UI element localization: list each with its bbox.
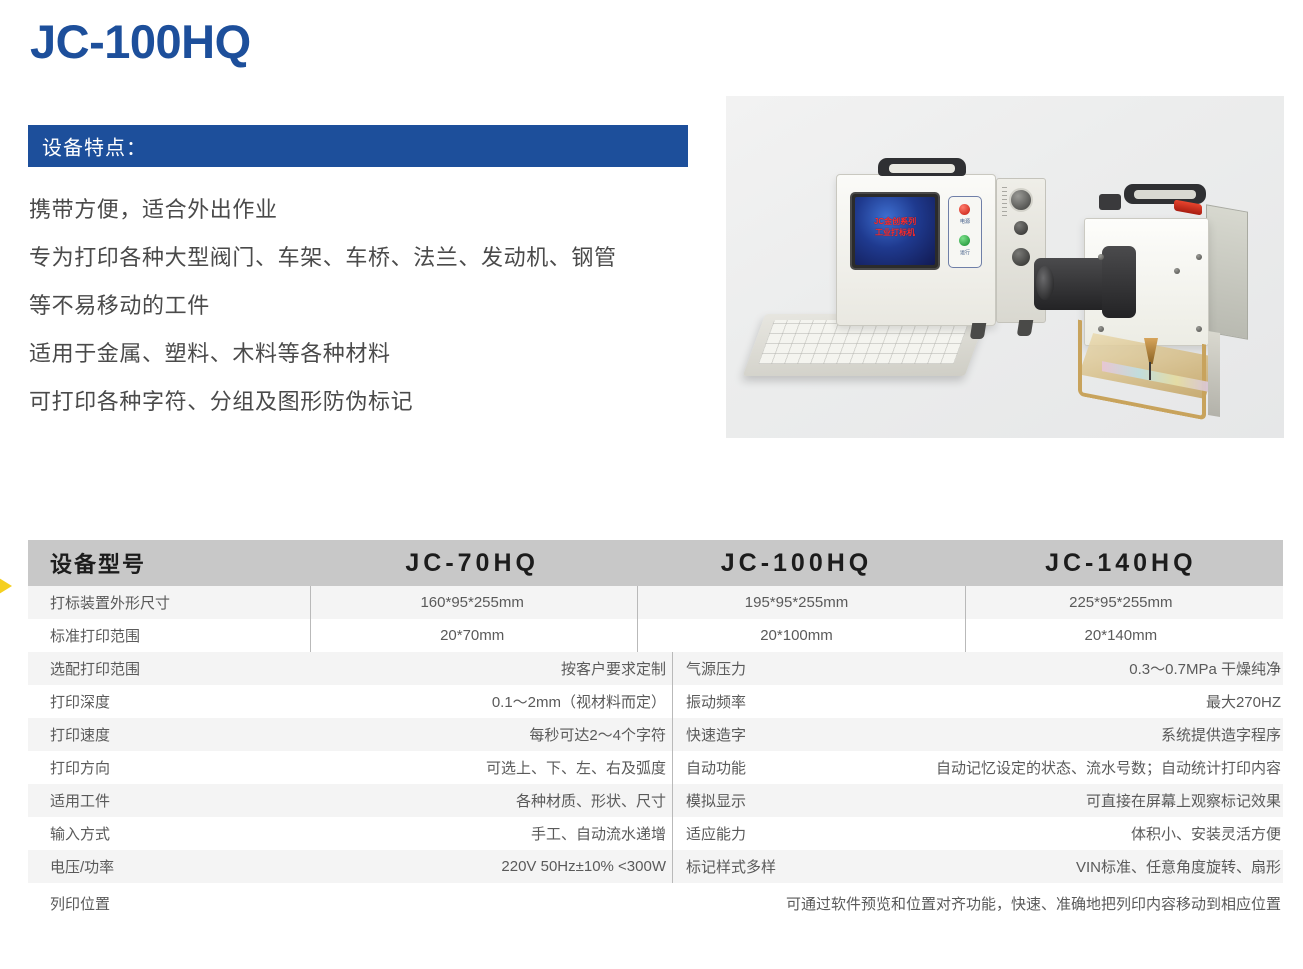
screen-text: JC金创系列 工业打标机 <box>855 216 935 238</box>
screen-line-2: 工业打标机 <box>875 228 915 237</box>
bolt-icon <box>1196 326 1202 332</box>
column-divider <box>637 586 638 619</box>
row-label: 气源压力 <box>672 658 822 679</box>
knob-small-lower <box>1012 248 1030 266</box>
power-led-label: 电源 <box>948 218 982 225</box>
power-led-icon <box>959 204 970 215</box>
center-divider <box>672 784 673 817</box>
controller-foot <box>1017 320 1034 336</box>
row-value: 体积小、安装灵活方便 <box>822 823 1283 844</box>
row-label: 列印位置 <box>28 893 310 914</box>
knob-small-upper <box>1014 221 1028 235</box>
row-half-left: 适用工件 各种材质、形状、尺寸 <box>28 784 672 817</box>
row-half-right: 标记样式多样 VIN标准、任意角度旋转、扇形 <box>672 850 1283 883</box>
marking-head-side <box>1206 204 1248 339</box>
row-marker-arrow-icon <box>0 570 12 602</box>
table-row: 适用工件 各种材质、形状、尺寸 模拟显示 可直接在屏幕上观察标记效果 <box>28 784 1283 817</box>
row-half-right: 快速造字 系统提供造字程序 <box>672 718 1283 751</box>
marking-stylus-tip <box>1149 362 1151 380</box>
row-value: 0.1～2mm（视材料而定） <box>288 691 672 712</box>
row-value: 最大270HZ <box>822 691 1283 712</box>
row-value: 手工、自动流水递增 <box>288 823 672 844</box>
bolt-icon <box>1174 268 1180 274</box>
run-led-label: 运行 <box>948 249 982 256</box>
table-header-model-1: JC-70HQ <box>310 549 634 578</box>
row-label: 打印速度 <box>28 724 288 745</box>
head-connector-block <box>1099 194 1121 210</box>
row-value: 系统提供造字程序 <box>822 724 1283 745</box>
table-row: 打印方向 可选上、下、左、右及弧度 自动功能 自动记忆设定的状态、流水号数；自动… <box>28 751 1283 784</box>
row-value: 按客户要求定制 <box>288 658 672 679</box>
row-half-right: 振动频率 最大270HZ <box>672 685 1283 718</box>
row-label: 模拟显示 <box>672 790 822 811</box>
center-divider <box>672 718 673 751</box>
row-label: 自动功能 <box>672 757 822 778</box>
row-value: 225*95*255mm <box>959 594 1283 611</box>
feature-line: 专为打印各种大型阀门、车架、车桥、法兰、发动机、钢管 <box>29 234 709 282</box>
column-divider <box>965 619 966 652</box>
row-label: 适用工件 <box>28 790 288 811</box>
connector-socket <box>1009 188 1033 212</box>
table-row: 打印速度 每秒可达2～4个字符 快速造字 系统提供造字程序 <box>28 718 1283 751</box>
keyboard-keys <box>758 320 970 364</box>
row-label: 选配打印范围 <box>28 658 288 679</box>
marking-arm-cap <box>1036 266 1054 300</box>
column-divider <box>965 586 966 619</box>
row-label: 输入方式 <box>28 823 288 844</box>
bolt-icon <box>1098 254 1104 260</box>
table-header-model-2: JC-100HQ <box>634 549 958 578</box>
controller-handle-inner <box>889 164 955 173</box>
feature-line: 携带方便，适合外出作业 <box>29 186 709 234</box>
row-half-left: 打印深度 0.1～2mm（视材料而定） <box>28 685 672 718</box>
features-header-label: 设备特点： <box>42 132 147 161</box>
row-half-right: 气源压力 0.3～0.7MPa 干燥纯净 <box>672 652 1283 685</box>
row-half-right: 自动功能 自动记忆设定的状态、流水号数；自动统计打印内容 <box>672 751 1283 784</box>
row-label: 电压/功率 <box>28 856 288 877</box>
product-photo: JC金创系列 工业打标机 电源 运行 <box>726 96 1284 438</box>
row-value: VIN标准、任意角度旋转、扇形 <box>822 856 1283 877</box>
row-value: 可选上、下、左、右及弧度 <box>288 757 672 778</box>
table-row: 输入方式 手工、自动流水递增 适应能力 体积小、安装灵活方便 <box>28 817 1283 850</box>
row-label: 适应能力 <box>672 823 822 844</box>
table-row: 打印深度 0.1～2mm（视材料而定） 振动频率 最大270HZ <box>28 685 1283 718</box>
marking-head-handle-inner <box>1134 190 1196 199</box>
column-divider <box>310 586 311 619</box>
row-half-right: 模拟显示 可直接在屏幕上观察标记效果 <box>672 784 1283 817</box>
row-half-left: 打印方向 可选上、下、左、右及弧度 <box>28 751 672 784</box>
row-half-left: 选配打印范围 按客户要求定制 <box>28 652 672 685</box>
row-value: 20*100mm <box>634 627 958 644</box>
page-title: JC-100HQ <box>30 16 251 68</box>
bolt-icon <box>1196 254 1202 260</box>
row-value: 各种材质、形状、尺寸 <box>288 790 672 811</box>
row-value: 0.3～0.7MPa 干燥纯净 <box>822 658 1283 679</box>
row-value: 20*70mm <box>310 627 634 644</box>
center-divider <box>672 652 673 685</box>
table-row: 打标装置外形尺寸 160*95*255mm 195*95*255mm 225*9… <box>28 586 1283 619</box>
row-value: 195*95*255mm <box>634 594 958 611</box>
row-label: 标记样式多样 <box>672 856 822 877</box>
row-label: 打标装置外形尺寸 <box>28 592 310 613</box>
run-led-icon <box>959 235 970 246</box>
column-divider <box>310 619 311 652</box>
table-header-label: 设备型号 <box>28 547 310 579</box>
table-header-row: 设备型号 JC-70HQ JC-100HQ JC-140HQ <box>28 540 1283 586</box>
row-value: 每秒可达2～4个字符 <box>288 724 672 745</box>
row-value: 可通过软件预览和位置对齐功能，快速、准确地把列印内容移动到相应位置 <box>310 893 1283 914</box>
feature-line: 可打印各种字符、分组及图形防伪标记 <box>29 378 709 426</box>
center-divider <box>672 685 673 718</box>
row-half-left: 电压/功率 220V 50Hz±10% <300W <box>28 850 672 883</box>
row-label: 标准打印范围 <box>28 625 310 646</box>
table-row: 标准打印范围 20*70mm 20*100mm 20*140mm <box>28 619 1283 652</box>
features-list: 携带方便，适合外出作业 专为打印各种大型阀门、车架、车桥、法兰、发动机、钢管 等… <box>29 186 709 426</box>
vent-slots <box>1002 186 1007 216</box>
row-label: 打印深度 <box>28 691 288 712</box>
row-value: 20*140mm <box>959 627 1283 644</box>
row-value: 220V 50Hz±10% <300W <box>288 858 672 875</box>
table-row-full: 列印位置 可通过软件预览和位置对齐功能，快速、准确地把列印内容移动到相应位置 <box>28 883 1283 923</box>
row-value: 可直接在屏幕上观察标记效果 <box>822 790 1283 811</box>
center-divider <box>672 817 673 850</box>
bolt-icon <box>1098 326 1104 332</box>
table-row: 选配打印范围 按客户要求定制 气源压力 0.3～0.7MPa 干燥纯净 <box>28 652 1283 685</box>
spec-table: 设备型号 JC-70HQ JC-100HQ JC-140HQ 打标装置外形尺寸 … <box>28 540 1283 923</box>
row-label: 打印方向 <box>28 757 288 778</box>
center-divider <box>672 850 673 883</box>
row-value: 160*95*255mm <box>310 594 634 611</box>
marking-arm-elbow <box>1102 246 1136 318</box>
row-half-left: 输入方式 手工、自动流水递增 <box>28 817 672 850</box>
row-label: 振动频率 <box>672 691 822 712</box>
feature-line: 等不易移动的工件 <box>29 282 709 330</box>
table-row: 电压/功率 220V 50Hz±10% <300W 标记样式多样 VIN标准、任… <box>28 850 1283 883</box>
row-value: 自动记忆设定的状态、流水号数；自动统计打印内容 <box>822 757 1283 778</box>
row-half-left: 打印速度 每秒可达2～4个字符 <box>28 718 672 751</box>
feature-line: 适用于金属、塑料、木料等各种材料 <box>29 330 709 378</box>
controller-foot <box>970 323 987 339</box>
features-header-bar: 设备特点： <box>28 125 688 167</box>
row-label: 快速造字 <box>672 724 822 745</box>
screen-line-1: JC金创系列 <box>874 217 916 226</box>
table-header-model-3: JC-140HQ <box>959 549 1283 578</box>
row-half-right: 适应能力 体积小、安装灵活方便 <box>672 817 1283 850</box>
display-screen: JC金创系列 工业打标机 <box>855 197 935 265</box>
column-divider <box>637 619 638 652</box>
support-leg <box>1208 331 1220 417</box>
center-divider <box>672 751 673 784</box>
